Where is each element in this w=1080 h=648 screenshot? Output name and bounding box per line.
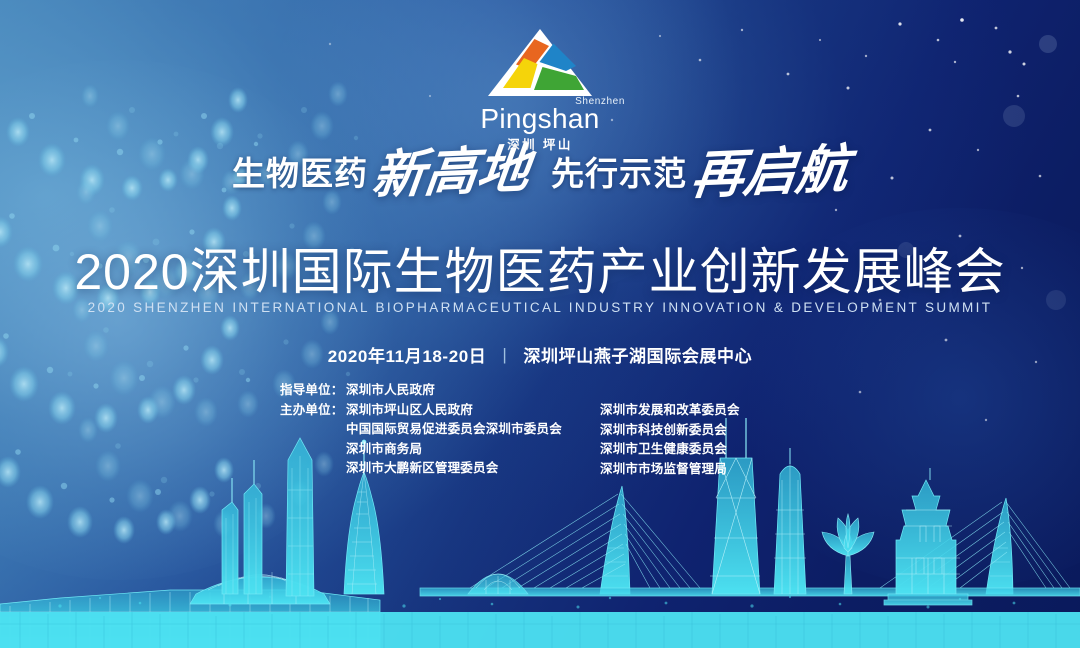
list-item: 深圳市商务局 <box>346 440 562 460</box>
guidance-values: 深圳市人民政府 <box>346 381 435 401</box>
tagline-right-calligraphy: 再启航 <box>689 145 852 201</box>
logo-main-en: Pingshan <box>435 104 645 133</box>
host-values: 深圳市坪山区人民政府 中国国际贸易促进委员会深圳市委员会 深圳市商务局 深圳市大… <box>346 401 562 479</box>
datebar-separator: | <box>502 345 507 365</box>
taglines: 生物医药 新高地 先行示范 再启航 <box>0 148 1080 197</box>
page-title: 2020深圳国际生物医药产业创新发展峰会 <box>0 232 1080 304</box>
guidance-label: 指导单位： <box>280 381 346 401</box>
list-item: 深圳市发展和改革委员会 <box>600 401 800 421</box>
host-label: 主办单位： <box>280 401 346 479</box>
organizers-block: 指导单位： 深圳市人民政府 主办单位： 深圳市坪山区人民政府 中国国际贸易促进委… <box>0 381 1080 479</box>
list-item: 深圳市大鹏新区管理委员会 <box>346 459 562 479</box>
organizers-right-column: 深圳市发展和改革委员会 深圳市科技创新委员会 深圳市卫生健康委员会 深圳市市场监… <box>600 381 800 479</box>
tagline-left-calligraphy: 新高地 <box>370 145 533 201</box>
host-row: 主办单位： 深圳市坪山区人民政府 中国国际贸易促进委员会深圳市委员会 深圳市商务… <box>280 401 600 479</box>
list-item: 深圳市坪山区人民政府 <box>346 401 562 421</box>
event-venue: 深圳坪山燕子湖国际会展中心 <box>523 342 752 367</box>
tagline-left-plain: 生物医药 <box>232 157 368 197</box>
event-date: 2020年11月18-20日 <box>328 342 487 367</box>
list-item: 深圳市人民政府 <box>346 381 435 401</box>
pingshan-logo: Shenzhen Pingshan 深圳 坪山 <box>435 26 645 153</box>
event-datebar: 2020年11月18-20日 | 深圳坪山燕子湖国际会展中心 <box>0 342 1080 367</box>
tagline-left: 生物医药 新高地 <box>232 148 529 197</box>
english-subtitle: 2020 SHENZHEN INTERNATIONAL BIOPHARMACEU… <box>0 300 1080 315</box>
list-item: 深圳市卫生健康委员会 <box>600 440 800 460</box>
tagline-right-plain: 先行示范 <box>551 157 687 197</box>
list-item: 深圳市市场监督管理局 <box>600 460 800 480</box>
list-item: 中国国际贸易促进委员会深圳市委员会 <box>346 420 562 440</box>
tagline-right: 先行示范 再启航 <box>551 148 848 197</box>
conference-poster: Shenzhen Pingshan 深圳 坪山 生物医药 新高地 先行示范 再启… <box>0 0 1080 648</box>
pingshan-mountain-logo-icon <box>484 26 596 100</box>
organizers-left-column: 指导单位： 深圳市人民政府 主办单位： 深圳市坪山区人民政府 中国国际贸易促进委… <box>280 381 600 479</box>
guidance-row: 指导单位： 深圳市人民政府 <box>280 381 600 401</box>
list-item: 深圳市科技创新委员会 <box>600 421 800 441</box>
